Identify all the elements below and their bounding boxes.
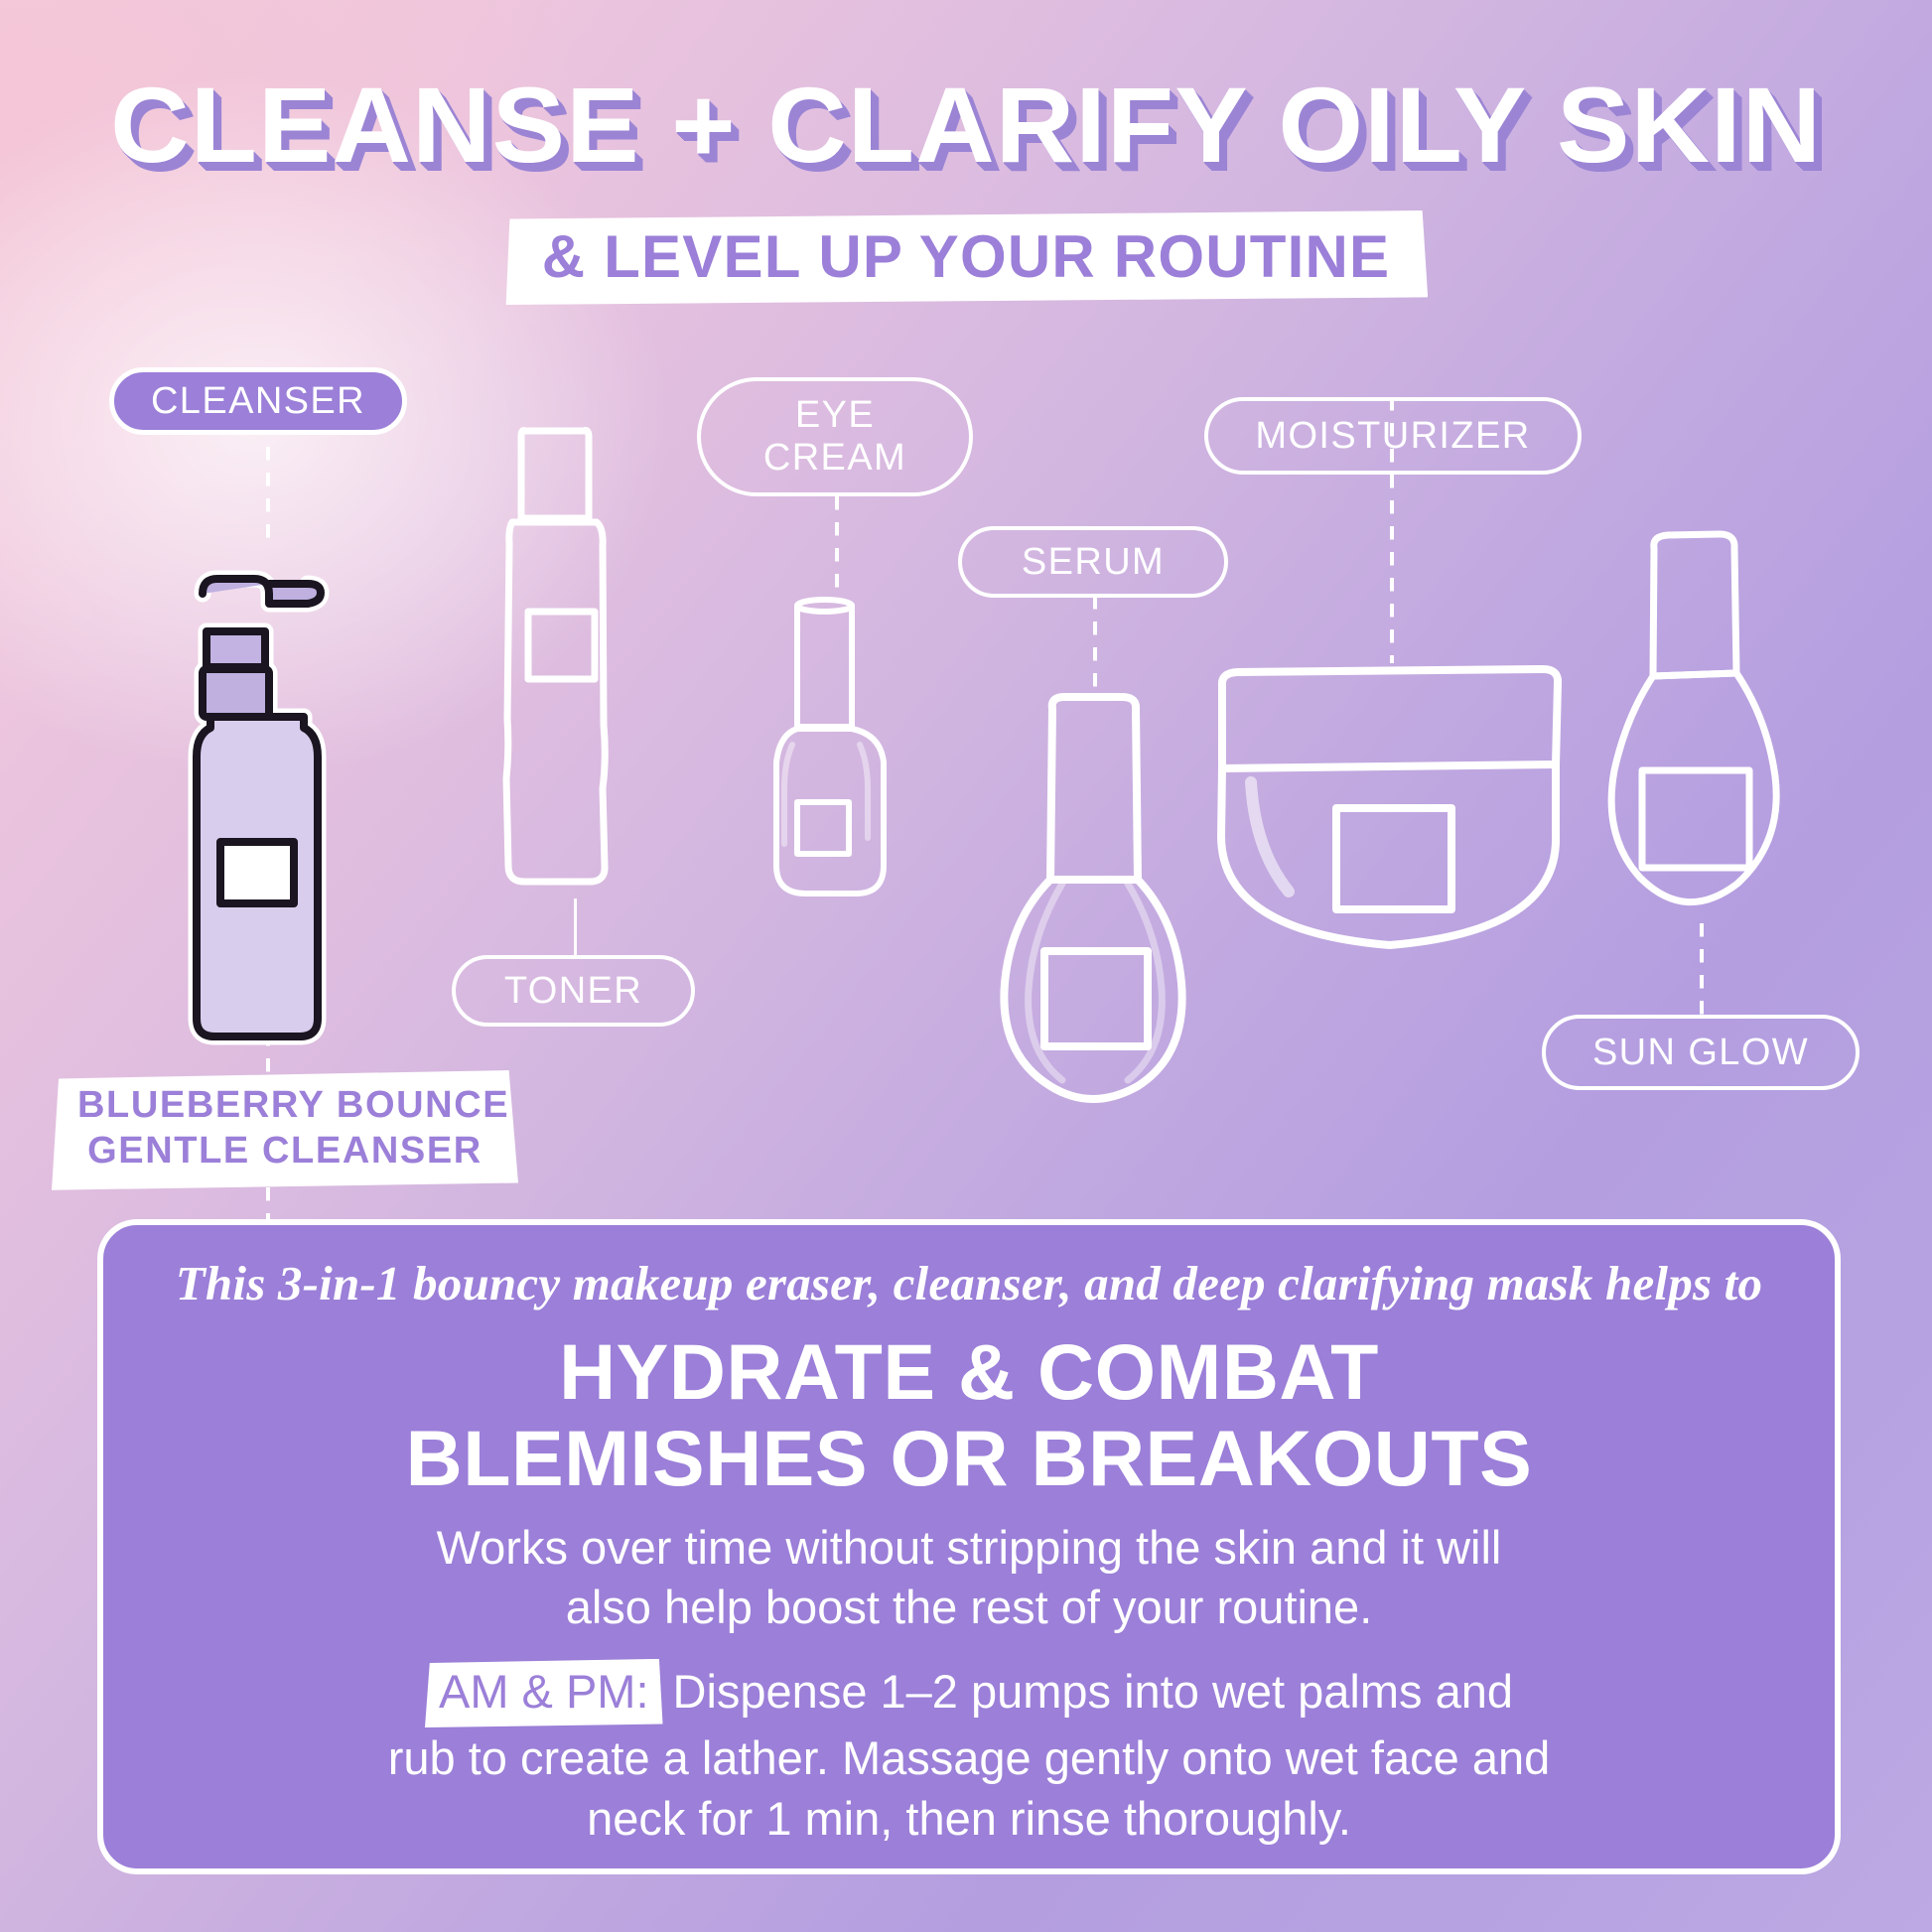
sidebar-item-sun-glow[interactable]: SUN GLOW — [1542, 1015, 1860, 1090]
connector-serum — [1093, 596, 1097, 695]
sidebar-item-serum[interactable]: SERUM — [958, 526, 1228, 598]
info-headline-line-2: BLEMISHES OR BREAKOUTS — [159, 1416, 1779, 1502]
info-intro: This 3-in-1 bouncy makeup eraser, cleans… — [159, 1255, 1779, 1313]
featured-product-name-line-1: BLUEBERRY BOUNCE — [77, 1082, 492, 1128]
sidebar-item-moisturizer[interactable]: MOISTURIZER — [1204, 397, 1582, 475]
label-moisturizer: MOISTURIZER — [1255, 415, 1530, 458]
info-body-line-2: also help boost the rest of your routine… — [159, 1578, 1779, 1637]
info-usage-line-1: Dispense 1–2 pumps into wet palms and — [673, 1665, 1513, 1718]
label-cleanser: CLEANSER — [151, 380, 365, 423]
product-illustration-eye-cream — [764, 584, 913, 911]
sidebar-item-eye-cream[interactable]: EYE CREAM — [697, 377, 973, 496]
product-illustration-serum — [993, 685, 1201, 1122]
connector-sun-glow — [1700, 923, 1704, 1015]
info-body: Works over time without stripping the sk… — [159, 1518, 1779, 1637]
label-sun-glow: SUN GLOW — [1592, 1032, 1809, 1074]
title-block: CLEANSE + CLARIFY OILY SKIN — [0, 69, 1932, 181]
usage-label-badge: AM & PM: — [425, 1659, 663, 1727]
product-illustration-sun-glow — [1596, 522, 1805, 929]
product-illustration-toner — [496, 421, 665, 905]
info-usage-line-3: neck for 1 min, then rinse thoroughly. — [159, 1788, 1779, 1849]
subtitle-highlight-band: & LEVEL UP YOUR ROUTINE — [504, 210, 1428, 305]
label-toner: TONER — [504, 970, 642, 1013]
info-headline: HYDRATE & COMBAT BLEMISHES OR BREAKOUTS — [159, 1329, 1779, 1502]
label-serum: SERUM — [1022, 541, 1165, 584]
page-title: CLEANSE + CLARIFY OILY SKIN — [110, 69, 1822, 181]
sidebar-item-cleanser[interactable]: CLEANSER — [109, 367, 407, 435]
info-headline-line-1: HYDRATE & COMBAT — [159, 1329, 1779, 1416]
product-illustration-cleanser — [189, 544, 357, 1050]
page-subtitle: & LEVEL UP YOUR ROUTINE — [542, 222, 1390, 291]
featured-product-name-line-2: GENTLE CLEANSER — [77, 1128, 492, 1173]
info-usage: AM & PM:Dispense 1–2 pumps into wet palm… — [159, 1659, 1779, 1849]
info-body-line-1: Works over time without stripping the sk… — [159, 1518, 1779, 1578]
infographic-canvas: CLEANSE + CLARIFY OILY SKIN & LEVEL UP Y… — [0, 0, 1932, 1932]
connector-eye-cream — [835, 496, 839, 592]
connector-cleanser — [266, 421, 270, 550]
connector-toner — [574, 898, 577, 956]
info-usage-row-1: AM & PM:Dispense 1–2 pumps into wet palm… — [159, 1659, 1779, 1727]
featured-product-name-tape: BLUEBERRY BOUNCE GENTLE CLEANSER — [52, 1070, 518, 1190]
info-panel: This 3-in-1 bouncy makeup eraser, cleans… — [97, 1219, 1841, 1874]
sidebar-item-toner[interactable]: TONER — [452, 955, 695, 1027]
info-usage-line-2: rub to create a lather. Massage gently o… — [159, 1727, 1779, 1788]
subtitle-block: & LEVEL UP YOUR ROUTINE — [0, 210, 1932, 305]
product-illustration-moisturizer — [1213, 661, 1571, 963]
label-eye-cream: EYE CREAM — [763, 394, 906, 479]
